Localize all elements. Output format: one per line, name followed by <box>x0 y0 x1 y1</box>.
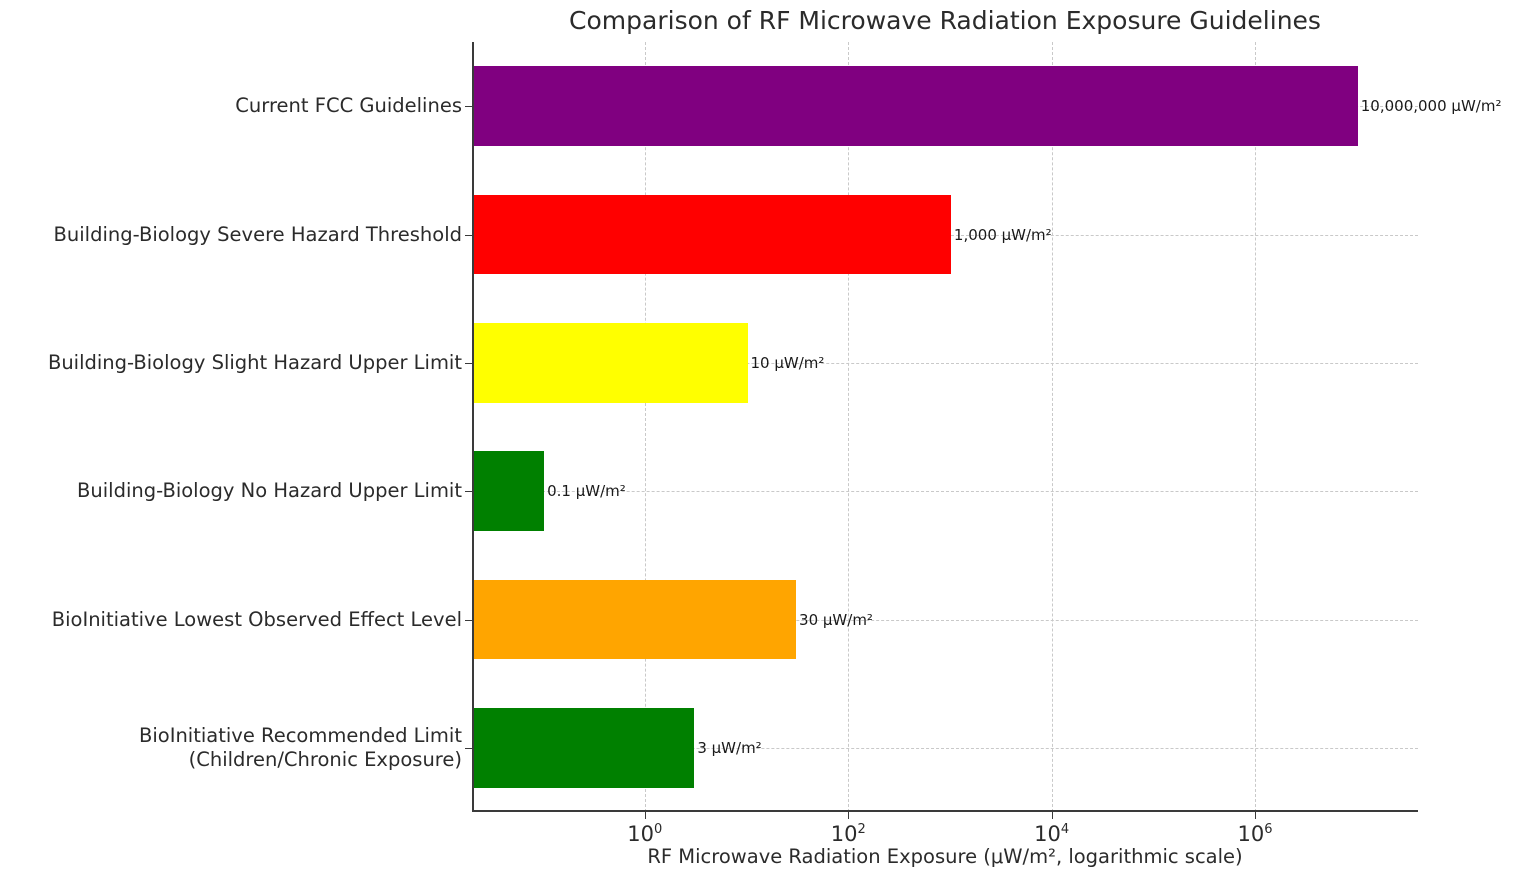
x-tick-label: 100 <box>627 822 662 846</box>
y-tick-label: BioInitiative Lowest Observed Effect Lev… <box>52 608 462 632</box>
y-tick-mark <box>465 620 472 621</box>
bar-value-label: 10 μW/m² <box>751 354 825 372</box>
y-tick-mark <box>465 748 472 749</box>
bar-value-label: 30 μW/m² <box>799 611 873 629</box>
x-tick-label: 106 <box>1238 822 1273 846</box>
x-axis-title: RF Microwave Radiation Exposure (μW/m², … <box>472 845 1418 868</box>
value-labels-layer: 10,000,000 μW/m²1,000 μW/m²10 μW/m²0.1 μ… <box>472 42 1418 812</box>
x-tick-label: 102 <box>831 822 866 846</box>
chart-title: Comparison of RF Microwave Radiation Exp… <box>472 6 1418 35</box>
y-tick-label: Building-Biology Slight Hazard Upper Lim… <box>48 351 462 375</box>
y-tick-label: BioInitiative Recommended Limit (Childre… <box>139 724 462 772</box>
y-tick-mark <box>465 363 472 364</box>
plot-area: 10,000,000 μW/m²1,000 μW/m²10 μW/m²0.1 μ… <box>472 42 1418 812</box>
y-tick-label: Building-Biology Severe Hazard Threshold <box>54 223 462 247</box>
x-tick-mark <box>1052 812 1053 819</box>
bar-value-label: 3 μW/m² <box>697 739 761 757</box>
axis-spine-bottom <box>472 810 1418 812</box>
bar-value-label: 10,000,000 μW/m² <box>1361 97 1502 115</box>
chart-page: Comparison of RF Microwave Radiation Exp… <box>0 0 1536 884</box>
bar-value-label: 1,000 μW/m² <box>954 226 1052 244</box>
x-tick-mark <box>1255 812 1256 819</box>
y-tick-label: Current FCC Guidelines <box>235 94 462 118</box>
y-tick-mark <box>465 106 472 107</box>
y-tick-mark <box>465 491 472 492</box>
axis-spine-left <box>472 42 474 812</box>
x-tick-label: 104 <box>1034 822 1069 846</box>
x-tick-mark <box>645 812 646 819</box>
y-tick-label: Building-Biology No Hazard Upper Limit <box>77 479 462 503</box>
x-tick-mark <box>848 812 849 819</box>
y-tick-mark <box>465 235 472 236</box>
bar-value-label: 0.1 μW/m² <box>547 482 626 500</box>
